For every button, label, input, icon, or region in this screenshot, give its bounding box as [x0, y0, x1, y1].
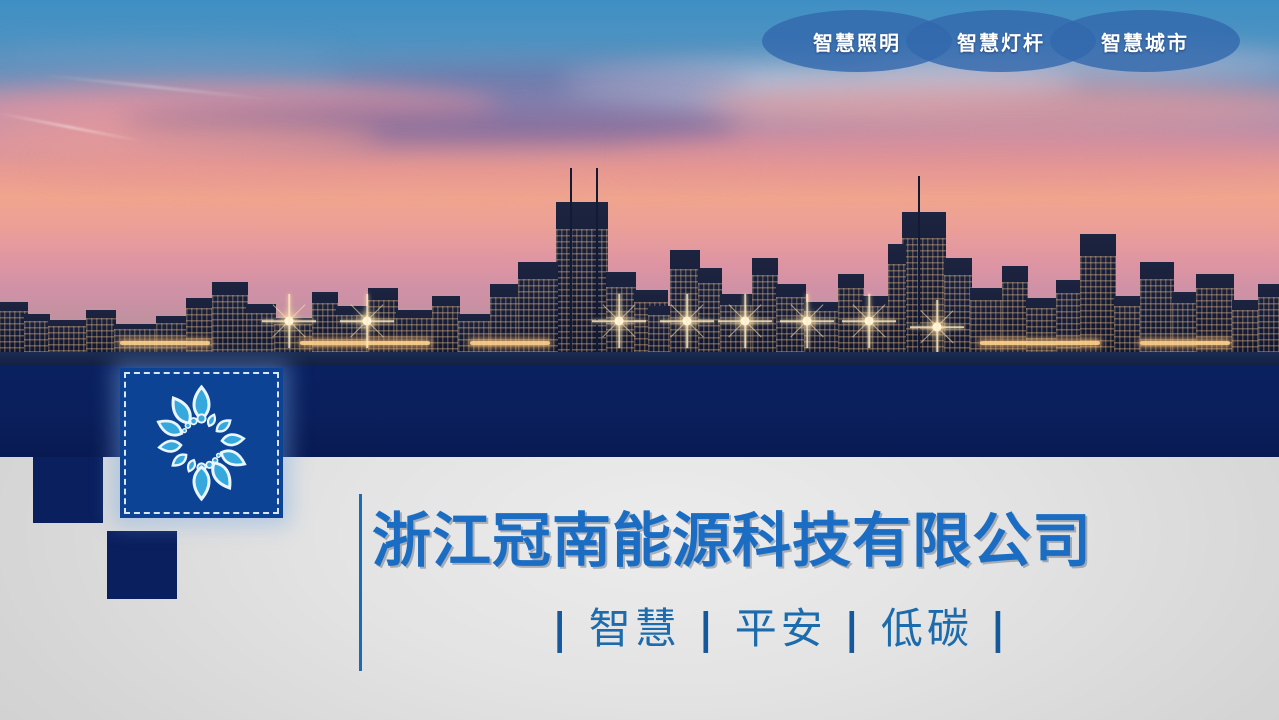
cloud-band — [0, 44, 340, 70]
nav-item-smart-city[interactable]: 智慧城市 — [1050, 10, 1240, 72]
decor-square-lower — [107, 531, 177, 599]
decor-square-upper — [33, 457, 103, 523]
subtitle-part-3: 低碳 — [881, 604, 973, 653]
subtitle-part-2: 平安 — [735, 604, 827, 653]
company-title: 浙江冠南能源科技有限公司 — [372, 493, 1092, 578]
subtitle-separator: | — [698, 604, 717, 653]
top-navigation[interactable]: 智慧照明 智慧灯杆 智慧城市 — [762, 10, 1234, 72]
company-subtitle: | 智慧 | 平安 | 低碳 | — [552, 595, 1010, 656]
subtitle-separator: | — [552, 604, 571, 653]
waterfront — [0, 352, 1279, 366]
nav-item-label: 智慧灯杆 — [957, 27, 1045, 56]
skyline-buildings — [0, 104, 1279, 354]
nav-item-label: 智慧城市 — [1101, 27, 1189, 56]
company-logo — [120, 368, 283, 518]
subtitle-part-1: 智慧 — [589, 604, 681, 653]
subtitle-separator: | — [844, 604, 863, 653]
presentation-slide: 智慧照明 智慧灯杆 智慧城市 — [0, 0, 1279, 720]
nav-item-label: 智慧照明 — [813, 27, 901, 56]
subtitle-separator: | — [990, 604, 1009, 653]
flower-petal-logo-icon — [120, 368, 283, 518]
title-divider-line — [359, 494, 362, 671]
